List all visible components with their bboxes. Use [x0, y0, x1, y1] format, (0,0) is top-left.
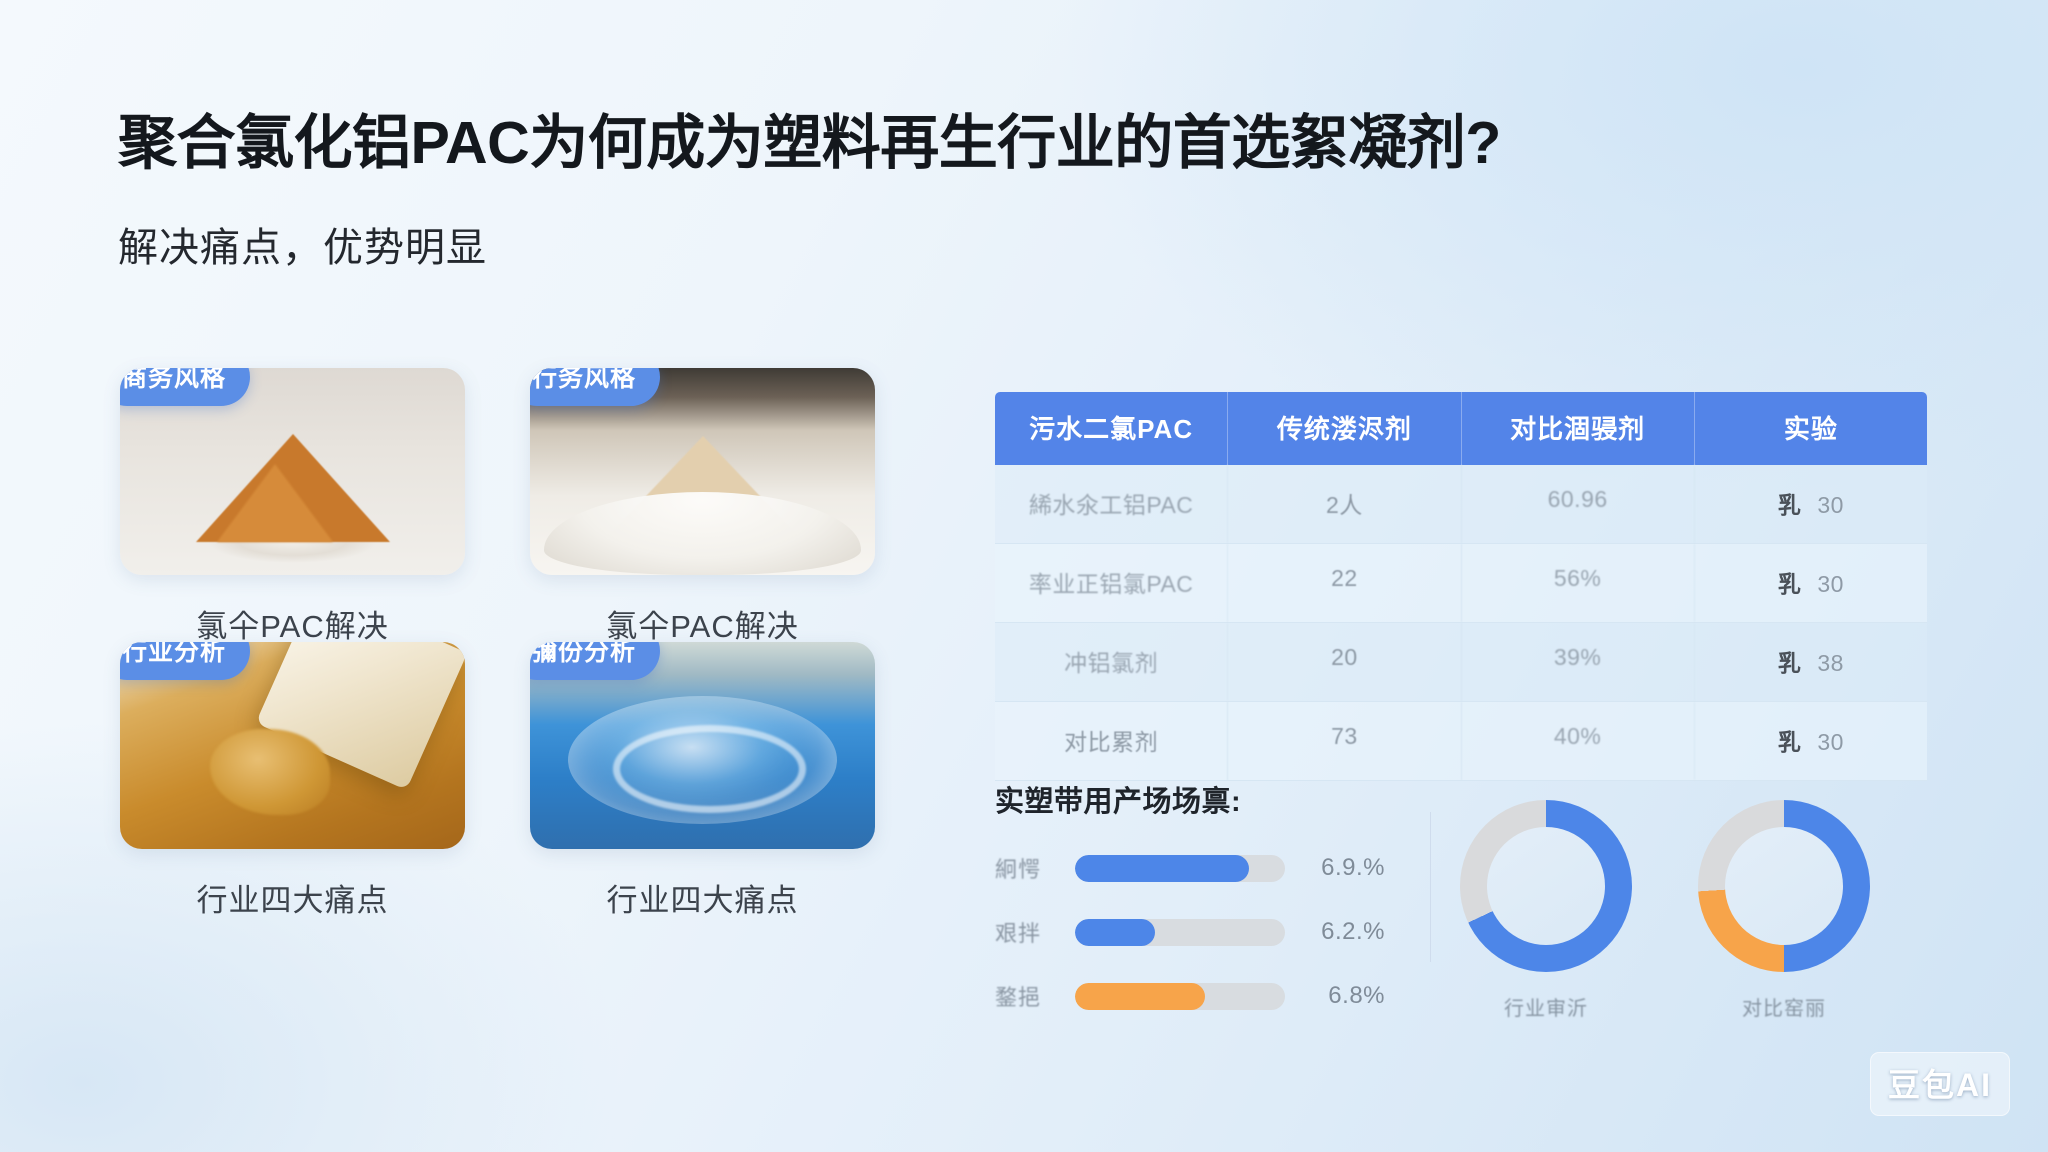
donut-chart: 行业审沂: [1460, 800, 1632, 1021]
table-cell-value: 73: [1228, 702, 1461, 780]
bar-value: 6.9.%: [1299, 854, 1385, 882]
bar-chart-row: 艰拌 6.2.%: [995, 912, 1385, 952]
card-badge: 行务风格: [530, 368, 660, 406]
table-header-cell: 传统溇浕剂: [1228, 392, 1461, 465]
table-cell-value: 2人: [1228, 465, 1461, 543]
table-cell-value: 40%: [1462, 702, 1695, 780]
card-caption: 氯仐PAC解决: [120, 601, 465, 646]
watermark-logo: 豆包AI: [1870, 1052, 2010, 1116]
bar-track: [1075, 983, 1285, 1010]
card-thumbnail[interactable]: 行业分析: [120, 642, 465, 849]
table-cell-value: 乳 30: [1695, 702, 1927, 780]
page-subtitle: 解决痛点，优势明显: [118, 215, 487, 273]
table-header-cell: 污水二氯PAC: [995, 392, 1228, 465]
card-caption: 行业四大痛点: [530, 875, 875, 920]
bar-label: 艰拌: [995, 916, 1069, 948]
card-thumbnail[interactable]: 商务风格: [120, 368, 465, 575]
table-header-cell: 对比涸骎剂: [1462, 392, 1695, 465]
donut-label: 对比窑丽: [1698, 992, 1870, 1021]
table-cell-number: 30: [1817, 729, 1844, 756]
table-row: 率业正铝氯PAC 22 56% 乳 30: [995, 544, 1927, 623]
card-badge: 彌份分析: [530, 642, 660, 680]
page-title: 聚合氯化铝PAC为何成为塑料再生行业的首选絮凝剂?: [118, 95, 1501, 180]
card-badge: 商务风格: [120, 368, 250, 406]
bar-chart-title: 实塑带用产场场禀:: [995, 778, 1385, 820]
bar-track: [1075, 919, 1285, 946]
image-card[interactable]: 行务风格 氯仐PAC解决: [530, 368, 875, 646]
table-cell-mark: 乳: [1778, 486, 1802, 520]
table-header-cell: 实验: [1695, 392, 1927, 465]
table-cell-value: 39%: [1462, 623, 1695, 701]
bar-fill: [1075, 983, 1205, 1010]
table-cell-number: 30: [1817, 571, 1844, 598]
image-card[interactable]: 商务风格 氯仐PAC解决: [120, 368, 465, 646]
bar-track: [1075, 855, 1285, 882]
bar-label: 絅愕: [995, 852, 1069, 884]
card-caption: 行业四大痛点: [120, 875, 465, 920]
bar-chart: 实塑带用产场场禀: 絅愕 6.9.% 艰拌 6.2.% 鍪挹 6.8%: [995, 778, 1385, 1040]
bar-value: 6.2.%: [1299, 918, 1385, 946]
comparison-table: 污水二氯PAC 传统溇浕剂 对比涸骎剂 实验 絺水氽工铝PAC 2人 60.96…: [995, 392, 1927, 781]
card-thumbnail[interactable]: 彌份分析: [530, 642, 875, 849]
table-cell-value: 56%: [1462, 544, 1695, 622]
table-cell-number: 38: [1817, 650, 1844, 677]
table-cell-name: 对比累剂: [995, 702, 1228, 780]
slide-root: 聚合氯化铝PAC为何成为塑料再生行业的首选絮凝剂? 解决痛点，优势明显 商务风格…: [0, 0, 2048, 1152]
donut-ring: [1460, 800, 1632, 972]
card-thumbnail[interactable]: 行务风格: [530, 368, 875, 575]
bar-fill: [1075, 855, 1249, 882]
table-cell-name: 冲铝氯剂: [995, 623, 1228, 701]
table-cell-value: 20: [1228, 623, 1461, 701]
card-caption: 氯仐PAC解决: [530, 601, 875, 646]
table-cell-number: 30: [1817, 492, 1844, 519]
donut-ring: [1698, 800, 1870, 972]
table-cell-mark: 乳: [1778, 644, 1802, 678]
table-row: 对比累剂 73 40% 乳 30: [995, 702, 1927, 781]
image-card[interactable]: 彌份分析 行业四大痛点: [530, 642, 875, 920]
bar-label: 鍪挹: [995, 980, 1069, 1012]
table-header-row: 污水二氯PAC 传统溇浕剂 对比涸骎剂 实验: [995, 392, 1927, 465]
section-divider: [1430, 812, 1431, 962]
table-cell-mark: 乳: [1778, 565, 1802, 599]
table-cell-mark: 乳: [1778, 723, 1802, 757]
table-cell-name: 率业正铝氯PAC: [995, 544, 1228, 622]
donut-chart-group: 行业审沂 对比窑丽: [1460, 800, 1930, 1021]
table-row: 冲铝氯剂 20 39% 乳 38: [995, 623, 1927, 702]
bar-value: 6.8%: [1299, 982, 1385, 1010]
table-cell-name: 絺水氽工铝PAC: [995, 465, 1228, 543]
bar-chart-row: 鍪挹 6.8%: [995, 976, 1385, 1016]
table-cell-value: 22: [1228, 544, 1461, 622]
table-cell-value: 乳 38: [1695, 623, 1927, 701]
table-cell-value: 乳 30: [1695, 465, 1927, 543]
table-row: 絺水氽工铝PAC 2人 60.96 乳 30: [995, 465, 1927, 544]
bar-fill: [1075, 919, 1155, 946]
table-cell-value: 60.96: [1462, 465, 1695, 543]
image-card[interactable]: 行业分析 行业四大痛点: [120, 642, 465, 920]
bar-chart-row: 絅愕 6.9.%: [995, 848, 1385, 888]
card-badge: 行业分析: [120, 642, 250, 680]
donut-label: 行业审沂: [1460, 992, 1632, 1021]
table-cell-value: 乳 30: [1695, 544, 1927, 622]
donut-chart: 对比窑丽: [1698, 800, 1870, 1021]
